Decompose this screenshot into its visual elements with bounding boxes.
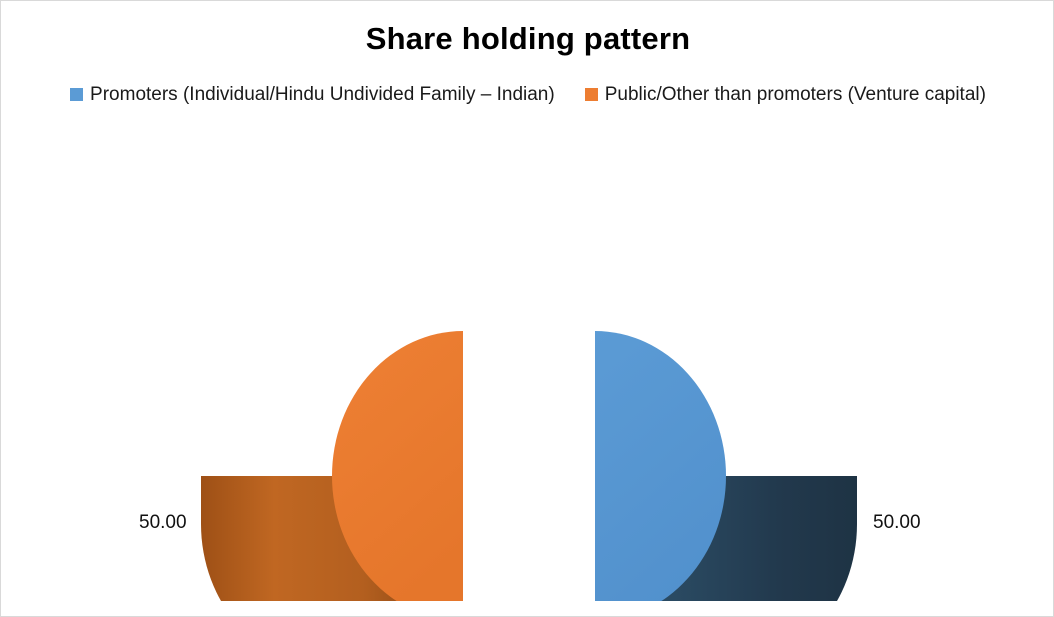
chart-legend: Promoters (Individual/Hindu Undivided Fa… xyxy=(1,85,1054,104)
pie-slice-promoters[interactable] xyxy=(595,331,857,601)
chart-title: Share holding pattern xyxy=(1,21,1054,57)
data-label-promoters: 50.00 xyxy=(873,512,921,534)
legend-swatch-public-icon xyxy=(585,88,598,101)
legend-item-promoters[interactable]: Promoters (Individual/Hindu Undivided Fa… xyxy=(70,85,555,104)
pie-slice-public[interactable] xyxy=(201,331,463,601)
legend-label-public: Public/Other than promoters (Venture cap… xyxy=(605,85,986,104)
legend-swatch-promoters-icon xyxy=(70,88,83,101)
legend-item-public[interactable]: Public/Other than promoters (Venture cap… xyxy=(585,85,986,104)
plot-area: 50.00 50.00 xyxy=(1,131,1054,601)
legend-label-promoters: Promoters (Individual/Hindu Undivided Fa… xyxy=(90,85,555,104)
data-label-public: 50.00 xyxy=(139,512,187,534)
chart-container: Share holding pattern Promoters (Individ… xyxy=(0,0,1054,617)
